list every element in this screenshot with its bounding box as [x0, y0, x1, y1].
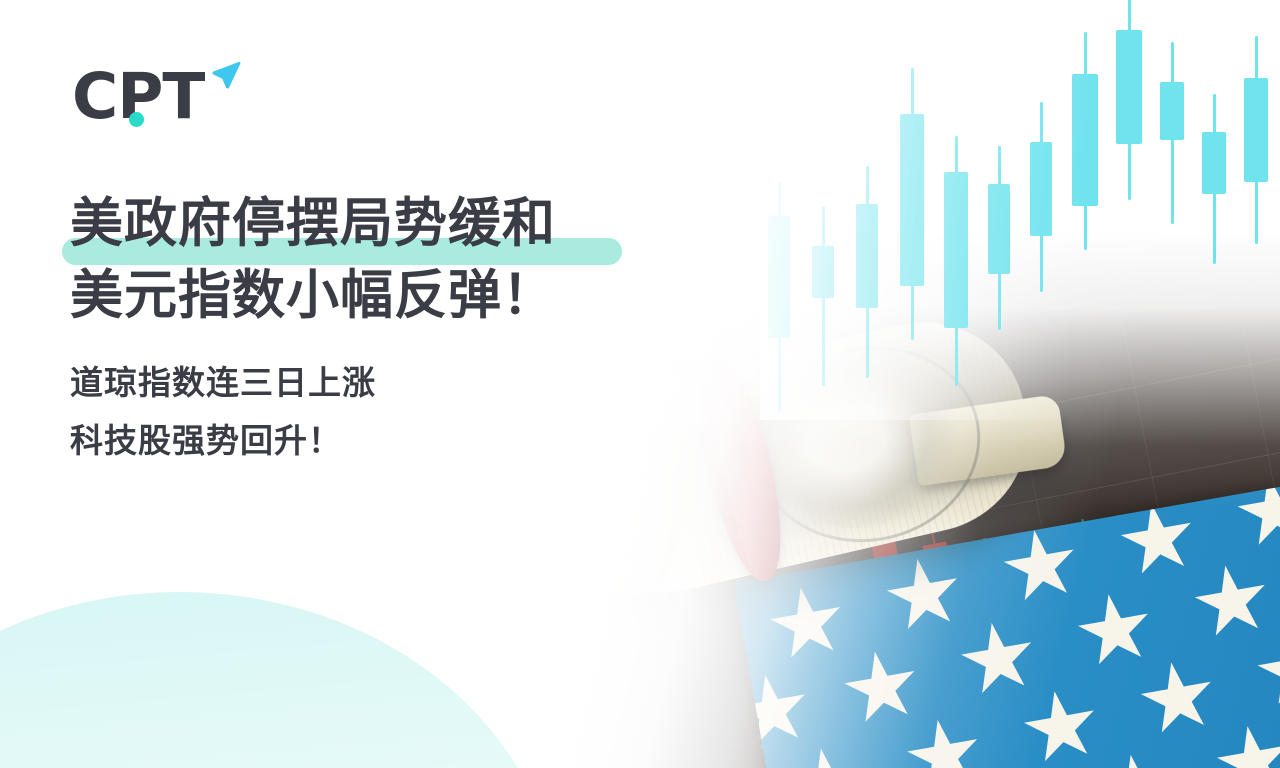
- flag-star: [784, 742, 870, 768]
- flag-star: [734, 669, 815, 755]
- flag-star: [838, 645, 924, 731]
- flag-star: [955, 617, 1041, 703]
- subtitle-line-1: 道琼指数连三日上涨: [70, 354, 710, 412]
- headline-line-2-text: 美元指数小幅反弹！: [70, 265, 556, 326]
- cyan-candlestick-chart: [760, 0, 1280, 420]
- subtitle: 道琼指数连三日上涨 科技股强势回升！: [70, 354, 710, 470]
- us-flag-star-field: [734, 479, 1280, 768]
- candle: [900, 114, 924, 286]
- flag-star: [1094, 748, 1180, 768]
- candle: [812, 246, 834, 298]
- candle: [1202, 132, 1226, 194]
- headline-line-2: 美元指数小幅反弹！: [70, 260, 710, 332]
- flag-star: [901, 713, 987, 768]
- headline: 美政府停摆局势缓和 美元指数小幅反弹！: [70, 188, 710, 332]
- candle: [768, 216, 790, 338]
- banknote-edge-fan: [909, 394, 1068, 486]
- candle: [1160, 82, 1184, 140]
- candle: [988, 184, 1010, 274]
- copy-block: 美政府停摆局势缓和 美元指数小幅反弹！ 道琼指数连三日上涨 科技股强势回升！: [70, 188, 710, 470]
- candle: [1072, 74, 1098, 206]
- teal-dot-icon: [129, 112, 144, 127]
- flag-star: [764, 581, 850, 667]
- candle: [944, 172, 968, 328]
- flag-star: [1211, 720, 1280, 768]
- mint-blob-decoration: [0, 592, 560, 768]
- candle: [856, 204, 878, 308]
- flag-star: [881, 552, 967, 638]
- chart-tick-label: 20:3: [757, 725, 801, 754]
- flag-star: [1135, 656, 1221, 742]
- cpt-logo[interactable]: CPT: [72, 58, 242, 136]
- flag-star: [1018, 685, 1104, 768]
- flag-star: [1189, 559, 1275, 645]
- flag-star: [1115, 497, 1201, 583]
- promo-banner: 20:3: [0, 0, 1280, 768]
- candle: [1244, 78, 1268, 182]
- franklin-portrait: [752, 337, 976, 547]
- banknote-portrait-oval: [736, 324, 1000, 564]
- candle: [1116, 30, 1142, 144]
- candlestick-fade-overlay: [760, 0, 1280, 420]
- flag-star: [998, 524, 1084, 610]
- flag-star: [1232, 479, 1280, 554]
- candle: [1030, 142, 1052, 236]
- subtitle-line-2: 科技股强势回升！: [70, 412, 710, 470]
- headline-line-1-text: 美政府停摆局势缓和: [70, 193, 556, 254]
- paper-plane-icon: [199, 60, 241, 100]
- flag-star: [1072, 588, 1158, 674]
- headline-line-1: 美政府停摆局势缓和: [70, 188, 710, 260]
- flag-star: [1252, 627, 1280, 713]
